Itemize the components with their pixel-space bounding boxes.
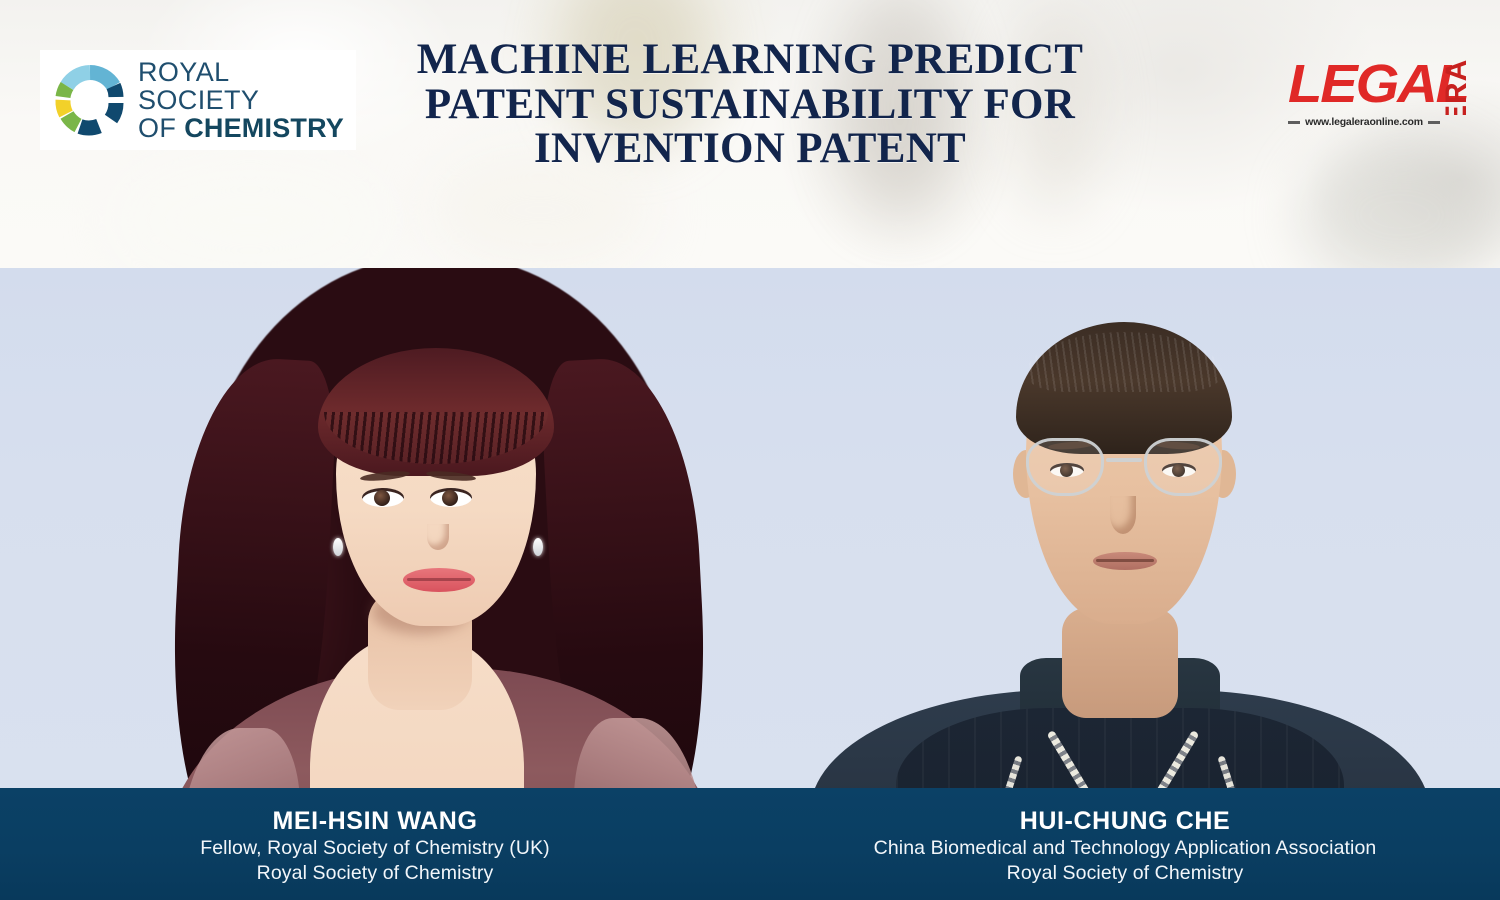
page-title: MACHINE LEARNING PREDICT PATENT SUSTAINA… — [380, 38, 1120, 172]
legal-era-rotated-era: ERA — [1440, 63, 1474, 115]
eye-right — [430, 488, 472, 507]
lips — [1093, 552, 1157, 570]
title-line-2: PATENT SUSTAINABILITY FOR — [380, 83, 1120, 128]
speaker-affiliation-line-1: China Biomedical and Technology Applicat… — [874, 836, 1377, 861]
portrait-hui-chung-che — [810, 268, 1430, 788]
background-blur-shape — [1300, 140, 1500, 270]
banner-graphic: ROYAL SOCIETY OF CHEMISTRY MACHINE LEARN… — [0, 0, 1500, 900]
speaker-caption-bar: MEI-HSIN WANG Fellow, Royal Society of C… — [0, 788, 1500, 900]
speaker-name: HUI-CHUNG CHE — [1020, 806, 1231, 836]
legal-era-wordmark-row: LEGAL ERA — [1288, 57, 1474, 115]
legal-era-rule-right — [1428, 121, 1440, 124]
earring-left — [333, 538, 343, 556]
legal-era-url-row: www.legaleraonline.com — [1288, 116, 1440, 128]
v-neck-trim-right — [1090, 730, 1200, 788]
eyeglass-lens-left — [1026, 438, 1104, 496]
earring-right — [533, 538, 543, 556]
eyeglasses-icon — [1024, 438, 1224, 498]
eye-left — [362, 488, 404, 507]
v-neck-trim-left — [1047, 730, 1157, 788]
armhole-trim-left — [960, 755, 1022, 788]
title-line-3: INVENTION PATENT — [380, 127, 1120, 172]
eyeglass-bridge — [1106, 458, 1142, 462]
rsc-wordmark-of: OF — [138, 113, 184, 143]
speaker-affiliation-line-1: Fellow, Royal Society of Chemistry (UK) — [200, 836, 550, 861]
legal-era-rotated-era-box: ERA — [1440, 55, 1474, 115]
portraits-band — [0, 268, 1500, 788]
rsc-wordmark: ROYAL SOCIETY OF CHEMISTRY — [138, 58, 346, 142]
legal-era-url: www.legaleraonline.com — [1305, 116, 1423, 128]
royal-society-of-chemistry-logo: ROYAL SOCIETY OF CHEMISTRY — [40, 50, 356, 150]
title-line-1: MACHINE LEARNING PREDICT — [380, 38, 1120, 83]
rsc-c-monogram-icon — [54, 64, 126, 136]
speaker-caption-right: HUI-CHUNG CHE China Biomedical and Techn… — [750, 788, 1500, 900]
speaker-name: MEI-HSIN WANG — [272, 806, 477, 836]
legal-era-rule-left — [1288, 121, 1300, 124]
nose — [1110, 496, 1136, 534]
neck — [1062, 608, 1178, 718]
lips — [403, 568, 475, 592]
rsc-wordmark-line2: OF CHEMISTRY — [138, 114, 346, 142]
nose — [427, 524, 449, 550]
hair — [1016, 322, 1232, 454]
portrait-mei-hsin-wang — [140, 268, 740, 788]
rsc-wordmark-line1: ROYAL SOCIETY — [138, 58, 346, 114]
speaker-affiliation-line-2: Royal Society of Chemistry — [257, 861, 494, 886]
eyeglass-lens-right — [1144, 438, 1222, 496]
speaker-affiliation-line-2: Royal Society of Chemistry — [1007, 861, 1244, 886]
rsc-wordmark-chemistry: CHEMISTRY — [184, 113, 344, 143]
armhole-trim-right — [1217, 755, 1279, 788]
background-blur-shape — [120, 160, 380, 270]
speaker-caption-left: MEI-HSIN WANG Fellow, Royal Society of C… — [0, 788, 750, 900]
legal-era-logo: LEGAL ERA www.legaleraonline.com — [1288, 57, 1474, 139]
